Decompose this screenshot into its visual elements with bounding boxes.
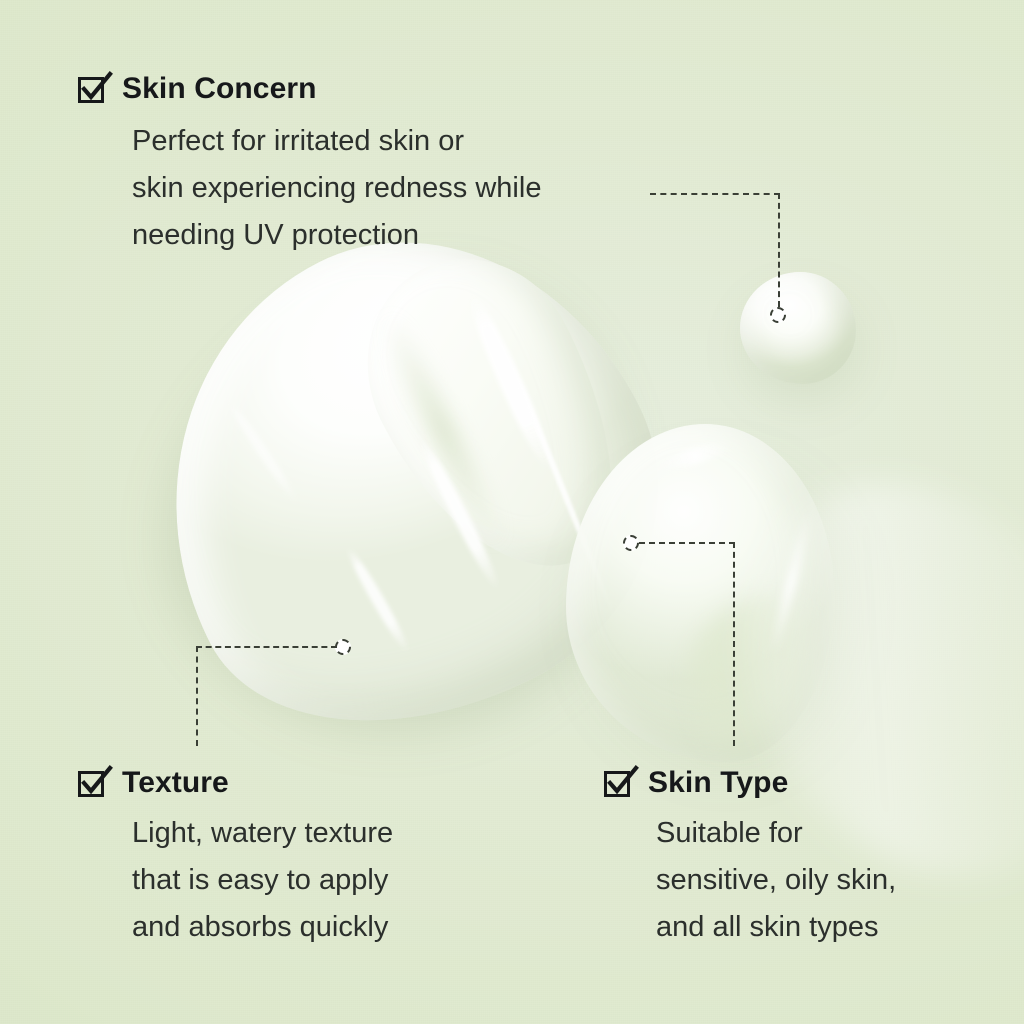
checked-checkbox-icon (78, 768, 108, 798)
callout-skin-concern-header: Skin Concern (78, 74, 541, 104)
checked-checkbox-icon (78, 74, 108, 104)
checked-checkbox-icon (604, 768, 634, 798)
callout-texture: Texture Light, watery texture that is ea… (78, 768, 393, 951)
cream-droplet (740, 272, 856, 384)
callout-skin-type: Skin Type Suitable for sensitive, oily s… (604, 768, 896, 951)
product-feature-callout-image: Skin Concern Perfect for irritated skin … (0, 0, 1024, 1024)
callout-skin-concern: Skin Concern Perfect for irritated skin … (78, 74, 541, 259)
callout-texture-header: Texture (78, 768, 393, 798)
callout-skin-type-title: Skin Type (648, 768, 788, 798)
callout-skin-type-header: Skin Type (604, 768, 896, 798)
callout-texture-body: Light, watery texture that is easy to ap… (132, 810, 393, 951)
callout-skin-concern-title: Skin Concern (122, 74, 317, 104)
callout-texture-title: Texture (122, 768, 229, 798)
callout-skin-type-body: Suitable for sensitive, oily skin, and a… (656, 810, 896, 951)
callout-skin-concern-body: Perfect for irritated skin or skin exper… (132, 118, 541, 259)
